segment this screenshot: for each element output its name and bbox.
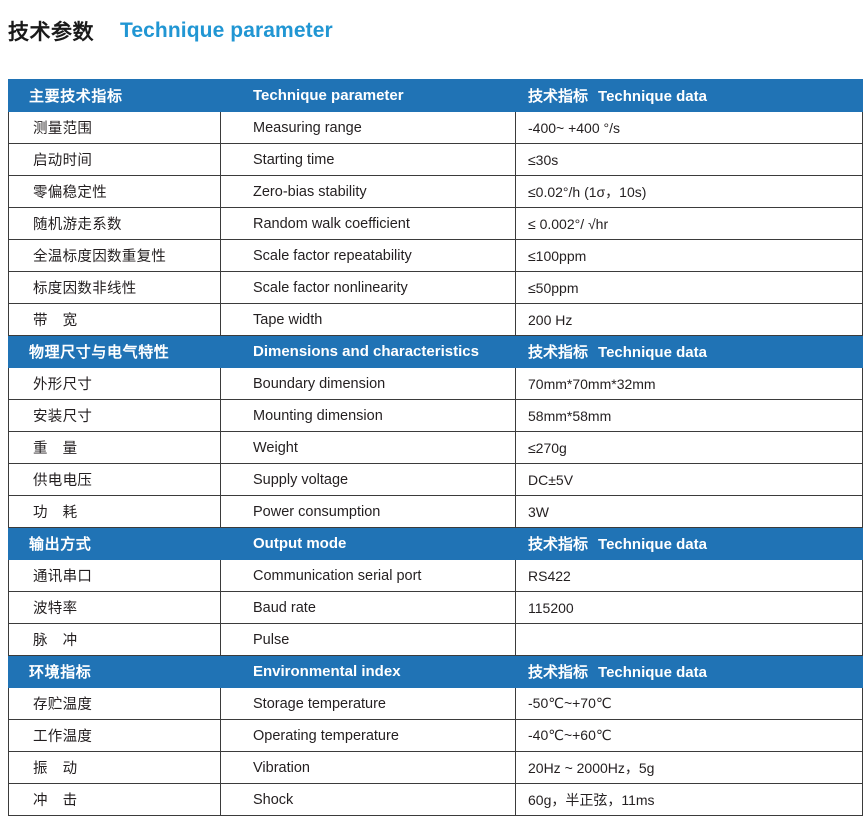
table-row: 全温标度因数重复性Scale factor repeatability≤100p… (9, 240, 863, 272)
table-row: 启动时间Starting time≤30s (9, 144, 863, 176)
spec-value: DC±5V (516, 464, 863, 496)
section-header-data-cn: 技术指标 (528, 88, 588, 105)
spec-value: 200 Hz (516, 304, 863, 336)
spec-sheet-page: 技术参数 Technique parameter 主要技术指标Technique… (0, 0, 868, 827)
spec-value: RS422 (516, 560, 863, 592)
spec-label-en: Measuring range (221, 112, 516, 144)
spec-value: ≤270g (516, 432, 863, 464)
section-header-row: 输出方式Output mode技术指标Technique data (9, 528, 863, 560)
spec-value: 70mm*70mm*32mm (516, 368, 863, 400)
spec-label-en: Baud rate (221, 592, 516, 624)
table-body: 主要技术指标Technique parameter技术指标Technique d… (9, 80, 863, 816)
spec-label-en: Pulse (221, 624, 516, 656)
spec-value: 115200 (516, 592, 863, 624)
spec-label-en: Tape width (221, 304, 516, 336)
table-row: 振 动Vibration20Hz ~ 2000Hz，5g (9, 752, 863, 784)
section-header-data: 技术指标Technique data (516, 80, 863, 112)
table-row: 零偏稳定性Zero-bias stability≤0.02°/h (1σ，10s… (9, 176, 863, 208)
spec-value: 58mm*58mm (516, 400, 863, 432)
spec-label-cn: 工作温度 (9, 720, 221, 752)
spec-label-cn: 零偏稳定性 (9, 176, 221, 208)
section-header-data-en: Technique data (598, 664, 707, 681)
table-row: 安装尺寸Mounting dimension58mm*58mm (9, 400, 863, 432)
spec-label-cn: 全温标度因数重复性 (9, 240, 221, 272)
table-row: 重 量Weight≤270g (9, 432, 863, 464)
spec-label-cn: 通讯串口 (9, 560, 221, 592)
spec-label-cn: 重 量 (9, 432, 221, 464)
spec-label-cn: 振 动 (9, 752, 221, 784)
spec-label-cn: 标度因数非线性 (9, 272, 221, 304)
section-header-en: Technique parameter (221, 80, 516, 112)
spec-label-cn: 随机游走系数 (9, 208, 221, 240)
spec-label-cn: 供电电压 (9, 464, 221, 496)
section-header-cn: 输出方式 (9, 528, 221, 560)
spec-label-cn: 带 宽 (9, 304, 221, 336)
spec-label-en: Vibration (221, 752, 516, 784)
section-header-data-en: Technique data (598, 88, 707, 105)
section-header-row: 环境指标Environmental index技术指标Technique dat… (9, 656, 863, 688)
spec-label-cn: 外形尺寸 (9, 368, 221, 400)
spec-label-en: Boundary dimension (221, 368, 516, 400)
spec-label-en: Operating temperature (221, 720, 516, 752)
spec-label-en: Shock (221, 784, 516, 816)
page-title-en: Technique parameter (120, 19, 333, 43)
spec-label-en: Storage temperature (221, 688, 516, 720)
table-row: 功 耗Power consumption3W (9, 496, 863, 528)
technique-parameter-table: 主要技术指标Technique parameter技术指标Technique d… (8, 79, 863, 816)
table-row: 脉 冲Pulse (9, 624, 863, 656)
section-header-cn: 环境指标 (9, 656, 221, 688)
spec-value: 20Hz ~ 2000Hz，5g (516, 752, 863, 784)
section-header-row: 主要技术指标Technique parameter技术指标Technique d… (9, 80, 863, 112)
spec-value: -400~ +400 °/s (516, 112, 863, 144)
spec-value: -50℃~+70℃ (516, 688, 863, 720)
section-header-row: 物理尺寸与电气特性Dimensions and characteristics技… (9, 336, 863, 368)
page-title: 技术参数 Technique parameter (8, 10, 333, 52)
spec-label-cn: 安装尺寸 (9, 400, 221, 432)
section-header-data-cn: 技术指标 (528, 536, 588, 553)
table-row: 测量范围Measuring range-400~ +400 °/s (9, 112, 863, 144)
page-title-cn: 技术参数 (8, 16, 94, 46)
table-row: 供电电压Supply voltageDC±5V (9, 464, 863, 496)
section-header-data: 技术指标Technique data (516, 656, 863, 688)
spec-value (516, 624, 863, 656)
spec-label-cn: 功 耗 (9, 496, 221, 528)
spec-value: 60g，半正弦，11ms (516, 784, 863, 816)
section-header-data: 技术指标Technique data (516, 336, 863, 368)
table-row: 随机游走系数Random walk coefficient≤ 0.002°/ √… (9, 208, 863, 240)
spec-value: ≤ 0.002°/ √hr (516, 208, 863, 240)
section-header-cn: 主要技术指标 (9, 80, 221, 112)
spec-label-cn: 测量范围 (9, 112, 221, 144)
section-header-data-en: Technique data (598, 536, 707, 553)
spec-value: ≤0.02°/h (1σ，10s) (516, 176, 863, 208)
section-header-data-cn: 技术指标 (528, 344, 588, 361)
spec-label-en: Power consumption (221, 496, 516, 528)
table-row: 波特率Baud rate115200 (9, 592, 863, 624)
table-row: 冲 击Shock60g，半正弦，11ms (9, 784, 863, 816)
section-header-data: 技术指标Technique data (516, 528, 863, 560)
table-row: 外形尺寸Boundary dimension70mm*70mm*32mm (9, 368, 863, 400)
spec-label-cn: 存贮温度 (9, 688, 221, 720)
section-header-en: Environmental index (221, 656, 516, 688)
spec-value: ≤30s (516, 144, 863, 176)
table-row: 工作温度Operating temperature-40℃~+60℃ (9, 720, 863, 752)
spec-label-cn: 启动时间 (9, 144, 221, 176)
table-row: 带 宽Tape width200 Hz (9, 304, 863, 336)
spec-label-cn: 冲 击 (9, 784, 221, 816)
section-header-cn: 物理尺寸与电气特性 (9, 336, 221, 368)
section-header-en: Dimensions and characteristics (221, 336, 516, 368)
spec-label-en: Scale factor nonlinearity (221, 272, 516, 304)
spec-label-en: Scale factor repeatability (221, 240, 516, 272)
spec-value: -40℃~+60℃ (516, 720, 863, 752)
section-header-en: Output mode (221, 528, 516, 560)
spec-label-cn: 波特率 (9, 592, 221, 624)
table-row: 通讯串口Communication serial portRS422 (9, 560, 863, 592)
spec-label-en: Zero-bias stability (221, 176, 516, 208)
spec-value: 3W (516, 496, 863, 528)
spec-value: ≤100ppm (516, 240, 863, 272)
spec-label-en: Weight (221, 432, 516, 464)
spec-label-en: Mounting dimension (221, 400, 516, 432)
spec-label-en: Communication serial port (221, 560, 516, 592)
section-header-data-en: Technique data (598, 344, 707, 361)
table-row: 存贮温度Storage temperature-50℃~+70℃ (9, 688, 863, 720)
spec-label-en: Starting time (221, 144, 516, 176)
section-header-data-cn: 技术指标 (528, 664, 588, 681)
spec-label-cn: 脉 冲 (9, 624, 221, 656)
spec-value: ≤50ppm (516, 272, 863, 304)
spec-label-en: Supply voltage (221, 464, 516, 496)
table-row: 标度因数非线性Scale factor nonlinearity≤50ppm (9, 272, 863, 304)
spec-label-en: Random walk coefficient (221, 208, 516, 240)
